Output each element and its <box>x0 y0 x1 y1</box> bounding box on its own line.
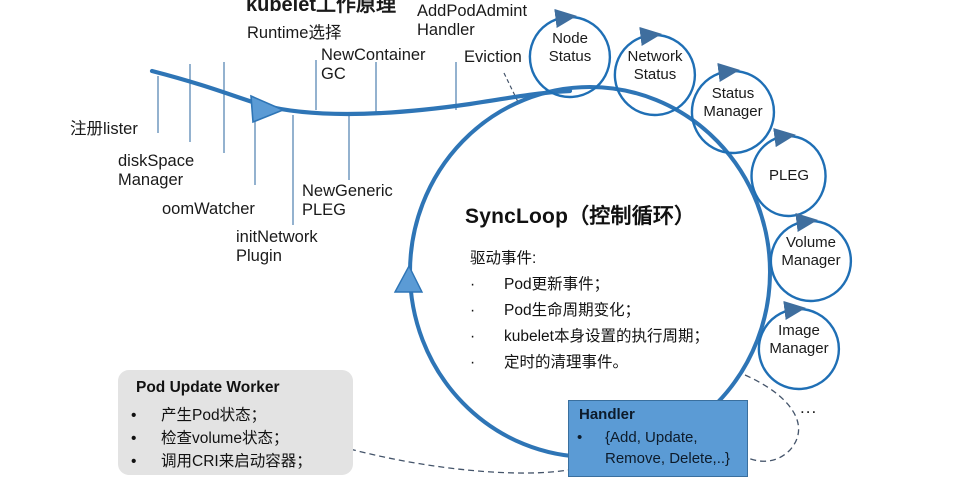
label-register-lister: 注册lister <box>70 120 138 139</box>
handler-title: Handler <box>579 406 635 423</box>
label-newgeneric-pleg: NewGeneric PLEG <box>302 182 393 220</box>
circle-label-node-status: Node Status <box>530 30 610 65</box>
label-oomwatcher: oomWatcher <box>162 200 255 219</box>
timeline-arrowhead <box>251 96 283 122</box>
pod-update-worker-item-3: •调用CRI来启动容器； <box>131 449 312 471</box>
worker-to-handler-link <box>350 449 568 473</box>
circle-label-pleg: PLEG <box>749 167 829 185</box>
diagram-canvas: kubelet工作原理 <box>0 0 965 491</box>
label-runtime-selection: Runtime选择 <box>247 24 341 43</box>
pod-update-worker-item-2: •检查volume状态； <box>131 426 288 448</box>
handler-bullet: •{Add, Update,Remove, Delete,..} <box>577 427 730 469</box>
drive-event-item-3: ·kubelet本身设置的执行周期； <box>470 324 709 346</box>
label-eviction: Eviction <box>464 48 522 67</box>
label-newcontainer-gc: NewContainer GC <box>321 46 426 84</box>
drive-events-heading: 驱动事件: <box>470 246 536 268</box>
ellipsis-text: ... <box>800 398 817 418</box>
drive-event-item-4: ·定时的清理事件。 <box>470 350 628 372</box>
pod-update-worker-title: Pod Update Worker <box>136 379 280 397</box>
syncloop-direction-arrow <box>395 266 422 292</box>
handler-box: Handler •{Add, Update,Remove, Delete,..} <box>568 400 748 477</box>
circle-label-image-manager: Image Manager <box>757 322 841 357</box>
label-addpodadmint-handler: AddPodAdmint Handler <box>417 2 527 40</box>
drive-event-item-2: ·Pod生命周期变化； <box>470 298 640 320</box>
label-initnetwork-plugin: initNetwork Plugin <box>236 228 318 266</box>
pod-update-worker-box: Pod Update Worker •产生Pod状态； •检查volume状态；… <box>118 370 353 475</box>
circle-label-volume-manager: Volume Manager <box>769 234 853 269</box>
syncloop-title: SyncLoop（控制循环） <box>465 200 695 230</box>
drive-event-item-1: ·Pod更新事件； <box>470 272 609 294</box>
circle-label-network-status: Network Status <box>615 48 695 83</box>
circle-label-status-manager: Status Manager <box>691 85 775 120</box>
pod-update-worker-item-1: •产生Pod状态； <box>131 403 266 425</box>
label-diskspace-manager: diskSpace Manager <box>118 152 194 190</box>
